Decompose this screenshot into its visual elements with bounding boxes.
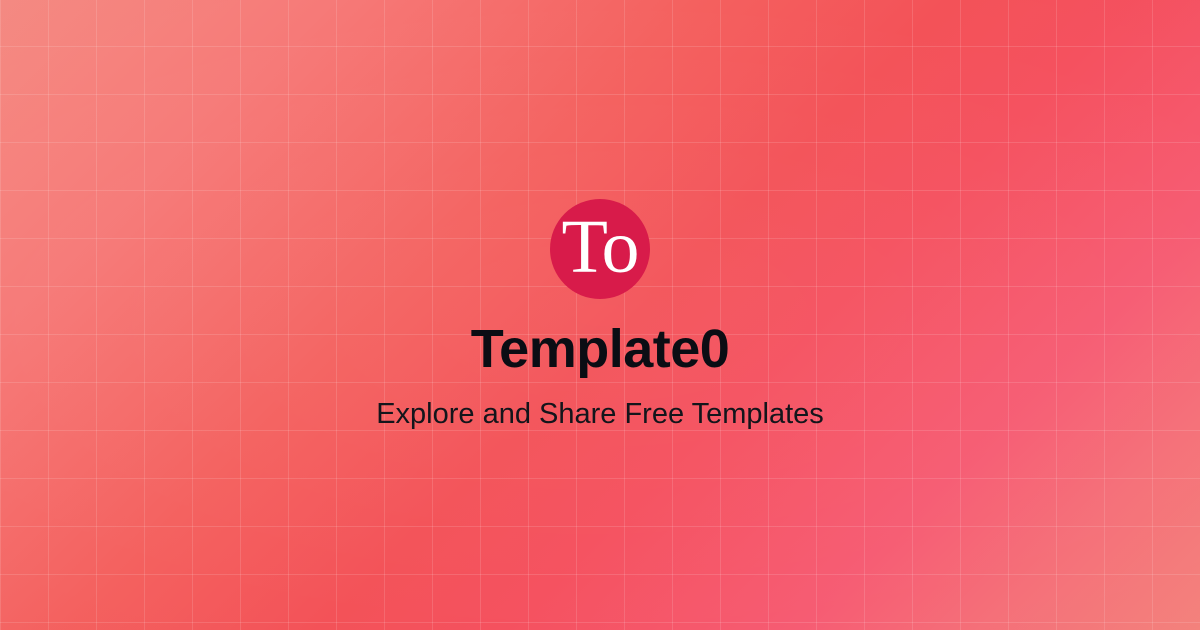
brand-monogram-text: To (561, 209, 638, 285)
page-tagline: Explore and Share Free Templates (376, 397, 824, 432)
brand-logo: To (550, 199, 650, 299)
og-banner-canvas: To Template0 Explore and Share Free Temp… (0, 0, 1200, 630)
banner-content: To Template0 Explore and Share Free Temp… (0, 0, 1200, 630)
page-title: Template0 (471, 321, 730, 377)
